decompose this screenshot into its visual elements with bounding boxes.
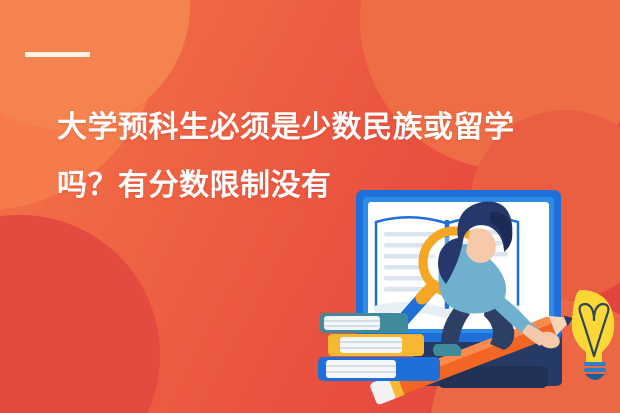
decorative-rule — [25, 52, 90, 57]
lightbulb-icon — [572, 290, 614, 380]
background-circle-lower-left — [0, 215, 160, 413]
promo-banner: 大学预科生必须是少数民族或留学吗？有分数限制没有 — [0, 0, 620, 413]
background-circle-bottom-left-small — [0, 360, 80, 413]
hero-illustration — [318, 180, 620, 413]
